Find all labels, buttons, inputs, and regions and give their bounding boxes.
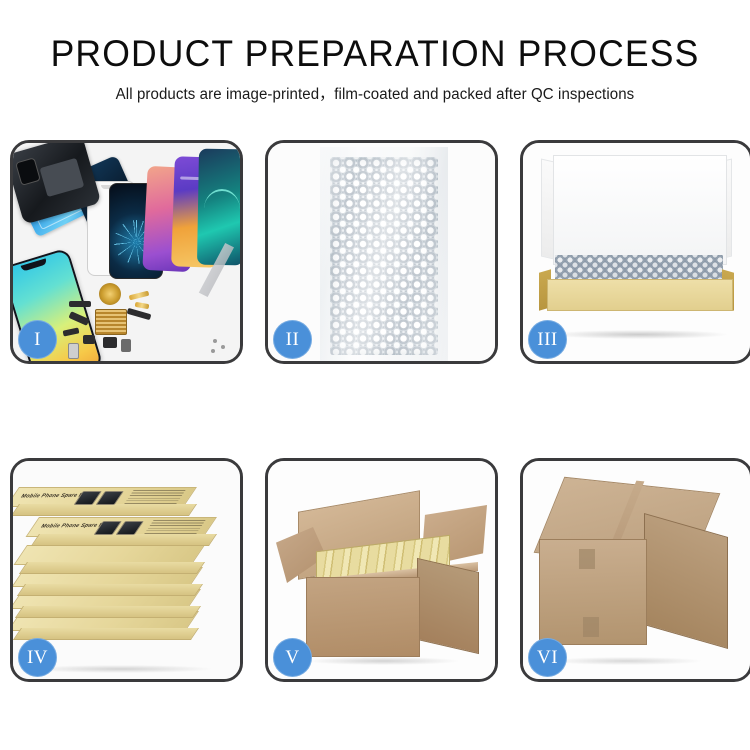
spare-part-flex-cable	[129, 291, 150, 301]
process-step-card-4: Mobile Phone Spare Parts Mobile Phone Sp…	[10, 458, 243, 682]
spare-part-flex-cable-small	[135, 302, 150, 309]
process-step-card-2: II	[265, 140, 498, 364]
drop-shadow	[308, 657, 458, 665]
process-step-card-5: V	[265, 458, 498, 682]
spare-part-chip-array	[95, 309, 127, 335]
box-front-face	[31, 534, 217, 546]
bubble-wrap-contents	[555, 255, 723, 281]
mailer-tray-front	[547, 279, 733, 311]
screw-icon-3	[211, 349, 215, 353]
product-preparation-process-infographic: PRODUCT PREPARATION PROCESS All products…	[0, 0, 750, 750]
carton-front-face	[306, 577, 420, 657]
step-badge-5: V	[273, 638, 312, 677]
retail-box-bottom-4	[27, 545, 203, 571]
header: PRODUCT PREPARATION PROCESS All products…	[0, 0, 750, 105]
step-badge-2: II	[273, 320, 312, 359]
process-step-grid: I II III	[10, 140, 740, 682]
spare-part-speaker-coil	[99, 283, 121, 305]
spare-part-vibrator	[103, 337, 117, 348]
drop-shadow	[551, 330, 727, 339]
retail-box-labeled-2: Mobile Phone Spare Parts	[39, 517, 215, 543]
carton-tape-patch-bottom	[583, 617, 599, 637]
step-badge-3: III	[528, 320, 567, 359]
box-label-1: Mobile Phone Spare Parts	[13, 488, 191, 505]
carton-side-face	[644, 513, 728, 649]
step-badge-6: VI	[528, 638, 567, 677]
spare-part-sim-tray	[68, 343, 79, 359]
drop-shadow	[551, 657, 701, 665]
spare-part-button	[83, 335, 95, 344]
carton-tape-patch-top	[579, 549, 595, 569]
drop-shadow	[31, 665, 211, 673]
step-badge-4: IV	[18, 638, 57, 677]
label-spec-lines	[144, 520, 205, 534]
process-step-card-3: III	[520, 140, 750, 364]
screw-icon-1	[213, 339, 217, 343]
spare-part-sensor	[121, 339, 131, 352]
page-title: PRODUCT PREPARATION PROCESS	[15, 0, 735, 76]
spare-part-ribbon-c	[127, 308, 152, 320]
process-step-card-6: VI	[520, 458, 750, 682]
bubble-wrap-texture	[330, 157, 438, 355]
label-spec-lines	[124, 490, 185, 504]
box-front-face	[15, 606, 201, 618]
box-front-face	[17, 584, 203, 596]
retail-box-labeled-1: Mobile Phone Spare Parts	[19, 487, 195, 513]
box-front-face	[13, 504, 197, 516]
step-badge-1: I	[18, 320, 57, 359]
screw-icon-2	[221, 345, 225, 349]
box-label-2: Mobile Phone Spare Parts	[32, 518, 211, 535]
battery-icon	[40, 158, 85, 197]
page-subtitle: All products are image-printed，film-coat…	[11, 76, 739, 105]
box-front-face	[19, 562, 205, 574]
camera-module-icon	[15, 157, 41, 186]
mailer-lid	[553, 155, 727, 265]
spare-part-connector	[69, 301, 91, 307]
carton-side-face	[417, 558, 479, 654]
process-step-card-1: I	[10, 140, 243, 364]
